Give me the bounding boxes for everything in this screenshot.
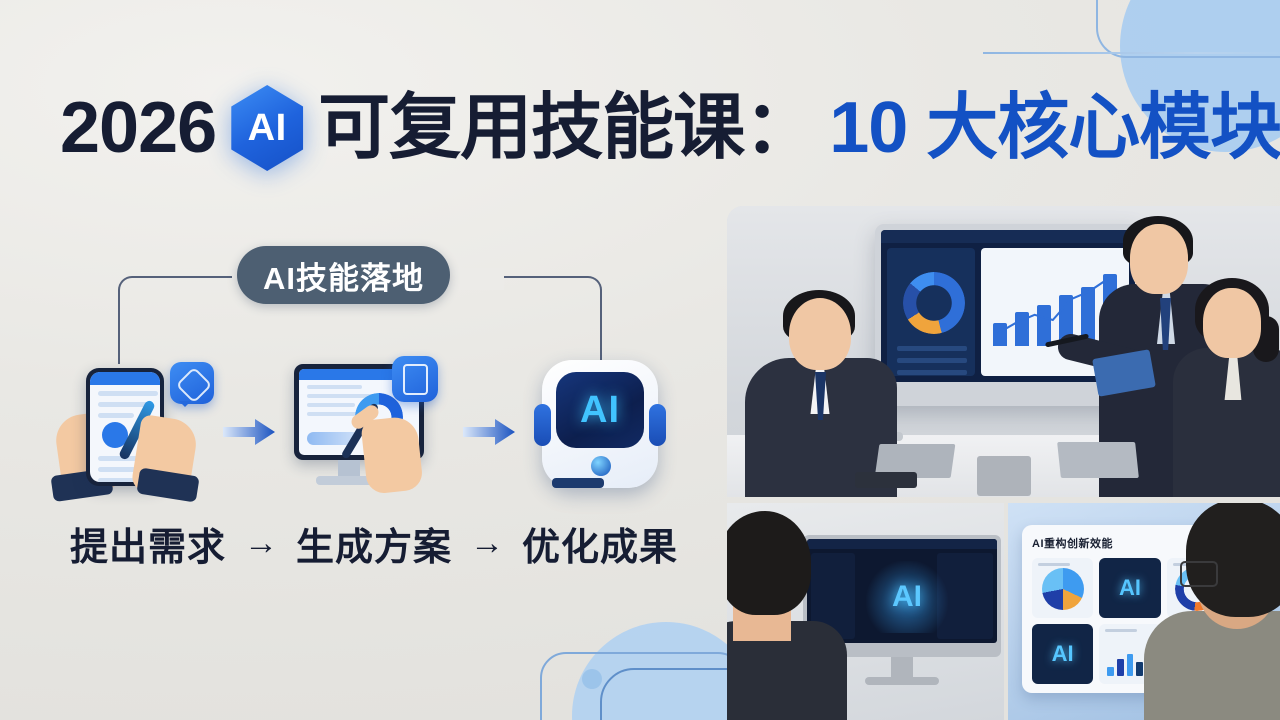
flow-badge: AI技能落地	[237, 246, 450, 304]
caption-step-2: 生成方案	[296, 516, 452, 571]
decor-horizontal-line-top-right	[983, 52, 1280, 54]
title-dark-part: 可复用技能课：	[318, 92, 815, 164]
man-viewing-ai-hologram-photo: AI	[727, 503, 1004, 720]
caption-arrow-2: →	[470, 524, 504, 563]
decor-rounded-line-top-right	[1096, 0, 1280, 58]
ai-logo-text: AI	[248, 109, 287, 147]
laptop-right	[1057, 442, 1139, 478]
caption-step-1: 提出需求	[70, 516, 226, 571]
ai-robot-head-icon: AI	[542, 360, 658, 488]
robot-eye-icon	[591, 456, 611, 476]
office-team-dashboard-photo	[727, 206, 1280, 497]
man-viewing-ai-dashboard-board-photo: AI重构创新效能 AI AI	[1008, 503, 1280, 720]
arrow-right-icon	[463, 419, 515, 445]
device-badge-icon	[392, 356, 438, 402]
chat-bubble-icon	[170, 362, 214, 404]
dashboard-donut-chart	[903, 272, 965, 334]
page-title: 2026 AI 可复用技能课： 10 大核心模块	[60, 82, 1280, 174]
flow-step-2-icon-group	[280, 352, 458, 512]
caption-step-3: 优化成果	[522, 516, 678, 571]
ai-hologram-cube-icon: AI	[863, 561, 951, 633]
board-card-ai-1: AI	[1099, 558, 1160, 618]
title-blue-part: 10 大核心模块	[829, 92, 1280, 164]
ai-hexagon-logo-icon: AI	[228, 85, 306, 171]
title-year: 2026	[60, 92, 216, 164]
slide-canvas: 2026 AI 可复用技能课： 10 大核心模块 AI技能落地	[0, 0, 1280, 720]
decor-dot-bottom	[582, 669, 602, 689]
flow-arrow-1	[218, 352, 280, 512]
board-card-pie	[1032, 558, 1093, 618]
flow-arrow-2	[458, 352, 520, 512]
person-back-view-right	[1144, 611, 1280, 720]
flow-icon-row: AI	[40, 352, 700, 512]
pointing-hand-shape	[360, 415, 423, 494]
person-seated-right	[1173, 348, 1280, 497]
flow-step-3-icon-group: AI	[520, 352, 698, 512]
robot-ai-text: AI	[580, 389, 620, 432]
flow-caption-row: 提出需求 → 生成方案 → 优化成果	[44, 516, 704, 570]
flow-step-1-icon-group	[40, 352, 218, 512]
arrow-right-icon	[223, 419, 275, 445]
eyeglasses-icon	[1180, 561, 1218, 587]
board-card-ai-2: AI	[1032, 624, 1093, 684]
caption-arrow-1: →	[244, 524, 278, 563]
